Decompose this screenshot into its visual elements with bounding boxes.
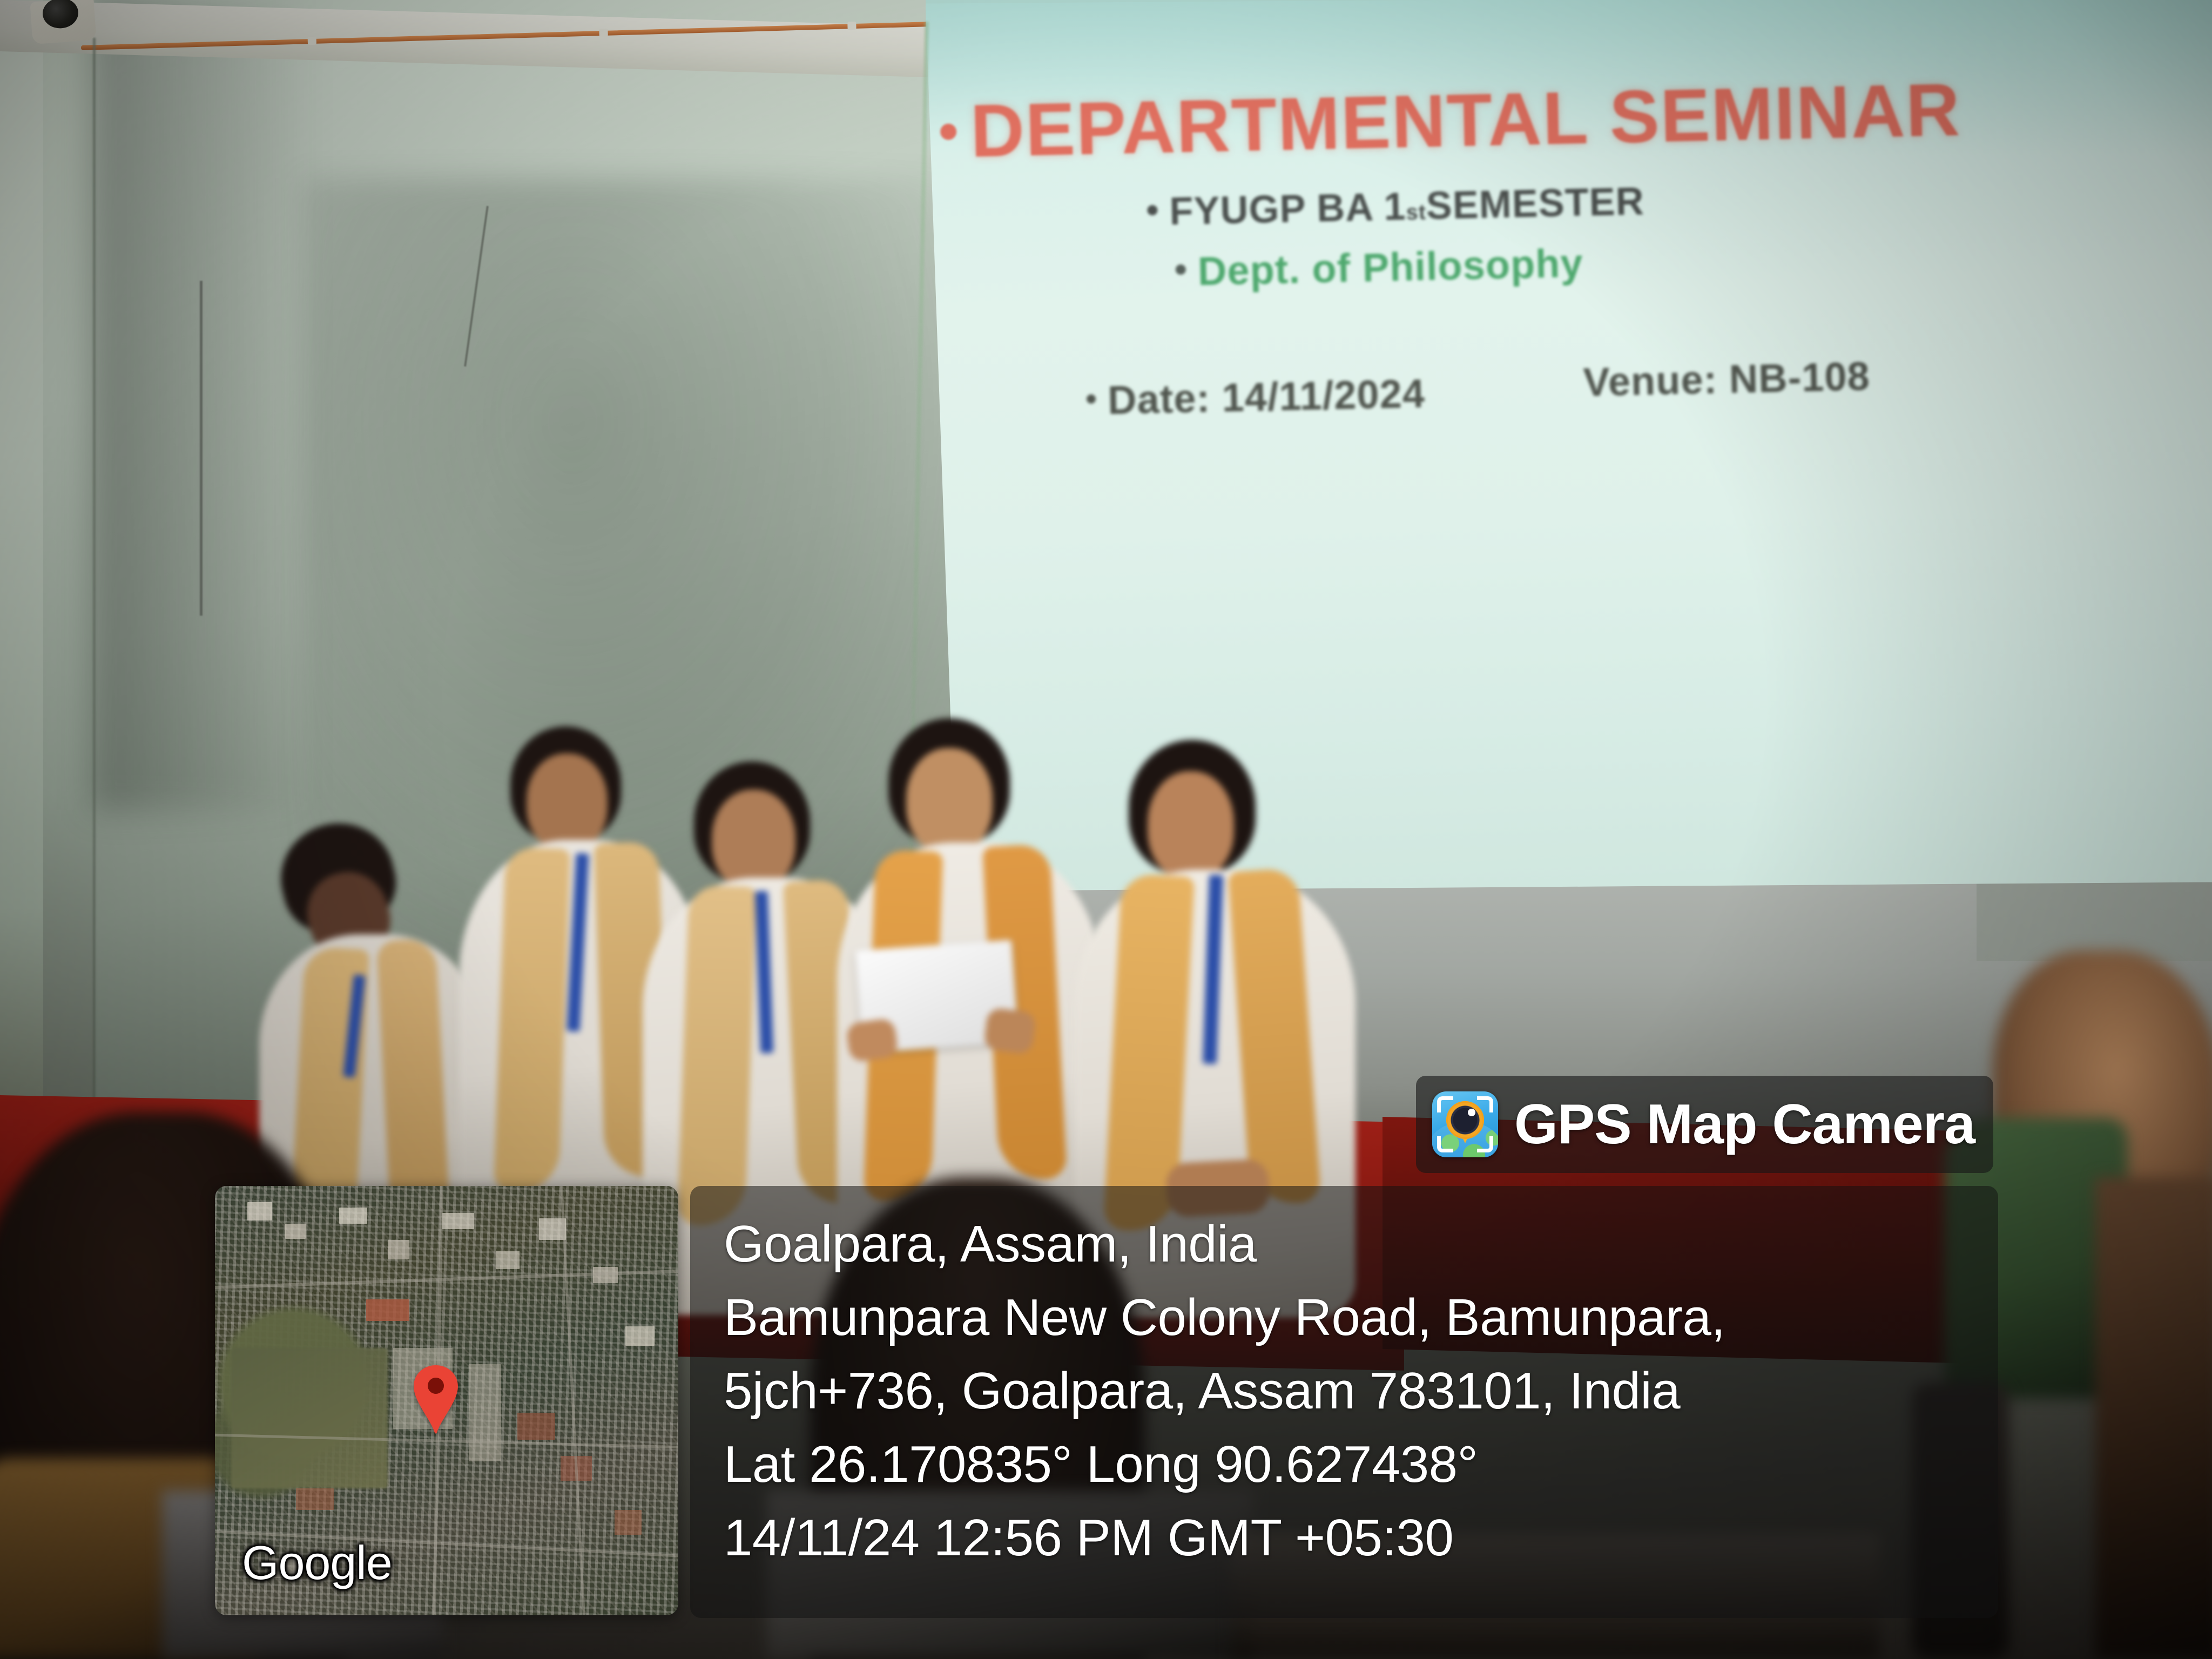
seated-person-body (2095, 1177, 2212, 1659)
wall-shadow-corner (92, 0, 319, 810)
gps-info-panel: Goalpara, Assam, India Bamunpara New Col… (690, 1186, 1998, 1618)
frame-corner-icon (1477, 1136, 1493, 1152)
frame-corner-icon (1437, 1136, 1453, 1152)
security-camera (30, 0, 96, 44)
info-address-line-2: 5jch+736, Goalpara, Assam 783101, India (724, 1354, 1998, 1428)
info-timestamp: 14/11/24 12:56 PM GMT +05:30 (724, 1501, 1998, 1575)
wall-corner-edge (93, 38, 96, 1145)
info-address-line-1: Bamunpara New Colony Road, Bamunpara, (724, 1281, 1998, 1354)
frame-corner-icon (1437, 1096, 1453, 1112)
gps-map-camera-badge: GPS Map Camera (1416, 1076, 1993, 1173)
projection-screen-glow (926, 0, 2212, 157)
google-watermark: Google (242, 1535, 392, 1590)
app-name-label: GPS Map Camera (1514, 1092, 1975, 1157)
info-place: Goalpara, Assam, India (724, 1208, 1998, 1281)
side-wall-edge (0, 0, 43, 1134)
map-pin-icon (409, 1364, 462, 1434)
camera-lens-icon (42, 0, 79, 30)
gps-map-camera-logo-icon (1432, 1091, 1498, 1157)
photo-canvas: DEPARTMENTAL SEMINAR FYUGP BA 1st SEMEST… (0, 0, 2212, 1659)
frame-corner-icon (1477, 1096, 1493, 1112)
info-coordinates: Lat 26.170835° Long 90.627438° (724, 1428, 1998, 1501)
wall-crack (200, 281, 203, 616)
map-thumbnail[interactable]: Google (215, 1186, 678, 1615)
